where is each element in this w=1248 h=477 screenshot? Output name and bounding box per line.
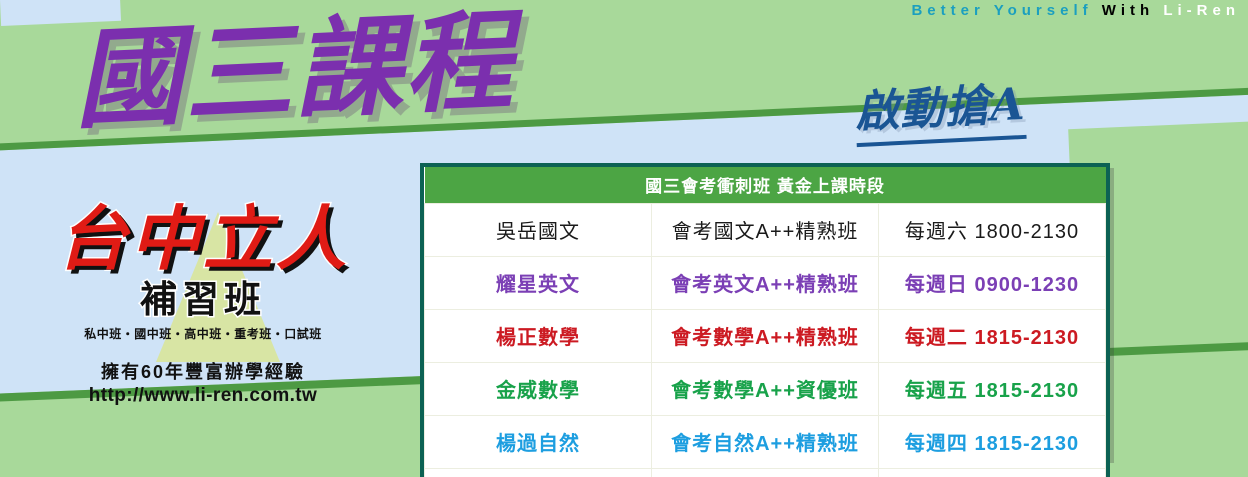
brand-logo: 台中立人 補習班 私中班・國中班・高中班・重考班・口試班 擁有60年豐富辦學經驗… bbox=[28, 206, 378, 407]
cell-course: 會考自然A++精熟班 bbox=[652, 416, 879, 469]
cell-course: 會考數學A++資優班 bbox=[652, 363, 879, 416]
cell-teacher: 楊正數學 bbox=[425, 310, 652, 363]
logo-website-url[interactable]: http://www.li-ren.com.tw bbox=[28, 385, 378, 407]
cell-time: 每週五 1815-2130 bbox=[879, 363, 1106, 416]
table-row: 耀星英文會考英文A++精熟班每週日 0900-1230 bbox=[425, 257, 1106, 310]
table-body: 吳岳國文會考國文A++精熟班每週六 1800-2130耀星英文會考英文A++精熟… bbox=[425, 204, 1106, 477]
table-header-row: 國三會考衝刺班 黃金上課時段 bbox=[425, 167, 1106, 204]
cell-time: 每週日 0900-1230 bbox=[879, 257, 1106, 310]
cell-time: 每週四 1815-2130 bbox=[879, 416, 1106, 469]
cell-teacher: 耀星英文 bbox=[425, 257, 652, 310]
table-header-title: 國三會考衝刺班 黃金上課時段 bbox=[425, 167, 1106, 204]
cell-teacher: 吳岳國文 bbox=[425, 204, 652, 257]
page-subtitle: 啟動搶A bbox=[853, 68, 1026, 147]
cell-course: 會考社會A++精熟班 bbox=[652, 469, 879, 477]
cell-course: 會考國文A++精熟班 bbox=[652, 204, 879, 257]
logo-name: 台中立人 bbox=[28, 206, 378, 273]
cell-course: 會考英文A++精熟班 bbox=[652, 257, 879, 310]
table-row: 吳岳國文會考國文A++精熟班每週六 1800-2130 bbox=[425, 204, 1106, 257]
cell-time: 每週日 1330-1700 bbox=[879, 469, 1106, 477]
cell-course: 會考數學A++精熟班 bbox=[652, 310, 879, 363]
tagline-part-2: With bbox=[1102, 2, 1154, 19]
cell-time: 每週六 1800-2130 bbox=[879, 204, 1106, 257]
cell-teacher: 林大雄社會 bbox=[425, 469, 652, 477]
schedule-table: 國三會考衝刺班 黃金上課時段 吳岳國文會考國文A++精熟班每週六 1800-21… bbox=[424, 167, 1106, 477]
table-row: 楊過自然會考自然A++精熟班每週四 1815-2130 bbox=[425, 416, 1106, 469]
cell-teacher: 金威數學 bbox=[425, 363, 652, 416]
logo-class-tags: 私中班・國中班・高中班・重考班・口試班 bbox=[28, 325, 378, 342]
table-row: 林大雄社會會考社會A++精熟班每週日 1330-1700 bbox=[425, 469, 1106, 477]
schedule-table-wrapper: 國三會考衝刺班 黃金上課時段 吳岳國文會考國文A++精熟班每週六 1800-21… bbox=[420, 163, 1110, 477]
tagline: Better Yourself With Li-Ren bbox=[911, 2, 1240, 19]
table-row: 金威數學會考數學A++資優班每週五 1815-2130 bbox=[425, 363, 1106, 416]
cell-time: 每週二 1815-2130 bbox=[879, 310, 1106, 363]
table-row: 楊正數學會考數學A++精熟班每週二 1815-2130 bbox=[425, 310, 1106, 363]
tagline-part-1: Better Yourself bbox=[911, 2, 1092, 19]
page-title: 國三課程 bbox=[72, 4, 517, 138]
promo-poster: Better Yourself With Li-Ren 國三課程 啟動搶A 台中… bbox=[0, 0, 1248, 477]
logo-experience: 擁有60年豐富辦學經驗 bbox=[28, 358, 378, 384]
tagline-part-3: Li-Ren bbox=[1163, 2, 1240, 19]
cell-teacher: 楊過自然 bbox=[425, 416, 652, 469]
